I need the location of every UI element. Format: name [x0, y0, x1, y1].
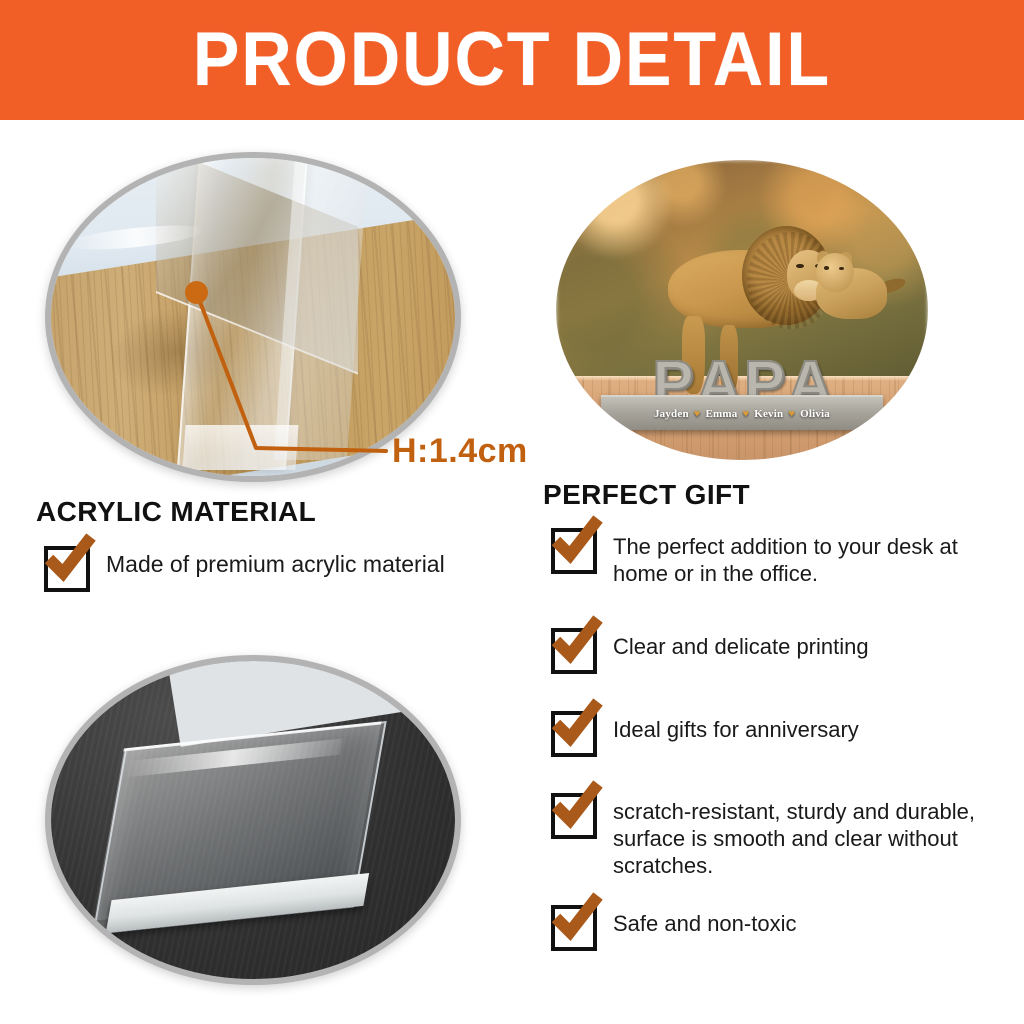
- lion-cub-eye-left: [824, 266, 830, 270]
- name-2: Emma: [706, 408, 738, 420]
- page-header-banner: PRODUCT DETAIL: [0, 0, 1024, 120]
- feature-item: Clear and delicate printing: [551, 628, 1011, 674]
- feature-label: Safe and non-toxic: [613, 905, 796, 937]
- papa-product-photo: P A P A Jayden ♥ Emma ♥ Kevin ♥ Olivia: [556, 160, 928, 460]
- product-scene: P A P A Jayden ♥ Emma ♥ Kevin ♥ Olivia: [556, 160, 928, 460]
- feature-label: Made of premium acrylic material: [106, 546, 445, 578]
- heart-icon: ♥: [742, 408, 749, 420]
- checkmark-icon: [550, 515, 604, 569]
- checkbox-checked-icon: [551, 905, 597, 951]
- feature-item: The perfect addition to your desk at hom…: [551, 528, 1011, 587]
- acrylic-block-base: [183, 425, 299, 470]
- heart-icon: ♥: [788, 408, 795, 420]
- checkbox-checked-icon: [551, 793, 597, 839]
- product-detail-page: PRODUCT DETAIL H:1.4cm: [0, 0, 1024, 1024]
- plaque-base: Jayden ♥ Emma ♥ Kevin ♥ Olivia: [601, 395, 884, 430]
- section-heading-perfect-gift: PERFECT GIFT: [543, 479, 750, 511]
- name-1: Jayden: [654, 408, 689, 420]
- thickness-callout-label: H:1.4cm: [392, 432, 528, 471]
- feature-label: Ideal gifts for anniversary: [613, 711, 859, 743]
- feature-item: Ideal gifts for anniversary: [551, 711, 1011, 757]
- acrylic-slab-photo: [45, 655, 461, 985]
- checkmark-icon: [550, 780, 604, 834]
- lion-cub-head: [816, 253, 853, 292]
- feature-item: Safe and non-toxic: [551, 905, 1011, 951]
- checkmark-icon: [550, 615, 604, 669]
- checkbox-checked-icon: [551, 628, 597, 674]
- checkbox-checked-icon: [44, 546, 90, 592]
- section-heading-acrylic-material: ACRYLIC MATERIAL: [36, 496, 316, 528]
- checkmark-icon: [550, 698, 604, 752]
- heart-icon: ♥: [694, 408, 701, 420]
- checkmark-icon: [43, 533, 97, 587]
- name-4: Olivia: [800, 408, 830, 420]
- feature-label: scratch-resistant, sturdy and durable, s…: [613, 793, 1016, 879]
- checkbox-checked-icon: [551, 528, 597, 574]
- feature-item: scratch-resistant, sturdy and durable, s…: [551, 793, 1016, 879]
- thickness-callout-dot: [185, 281, 208, 304]
- feature-label: Clear and delicate printing: [613, 628, 869, 660]
- checkbox-checked-icon: [551, 711, 597, 757]
- slab-scene: [51, 661, 455, 979]
- checkmark-icon: [550, 892, 604, 946]
- edge-scene: [51, 158, 455, 476]
- name-3: Kevin: [754, 408, 783, 420]
- engraved-names: Jayden ♥ Emma ♥ Kevin ♥ Olivia: [654, 408, 830, 420]
- feature-label: The perfect addition to your desk at hom…: [613, 528, 1011, 587]
- page-title: PRODUCT DETAIL: [193, 22, 831, 98]
- feature-item: Made of premium acrylic material: [44, 546, 514, 592]
